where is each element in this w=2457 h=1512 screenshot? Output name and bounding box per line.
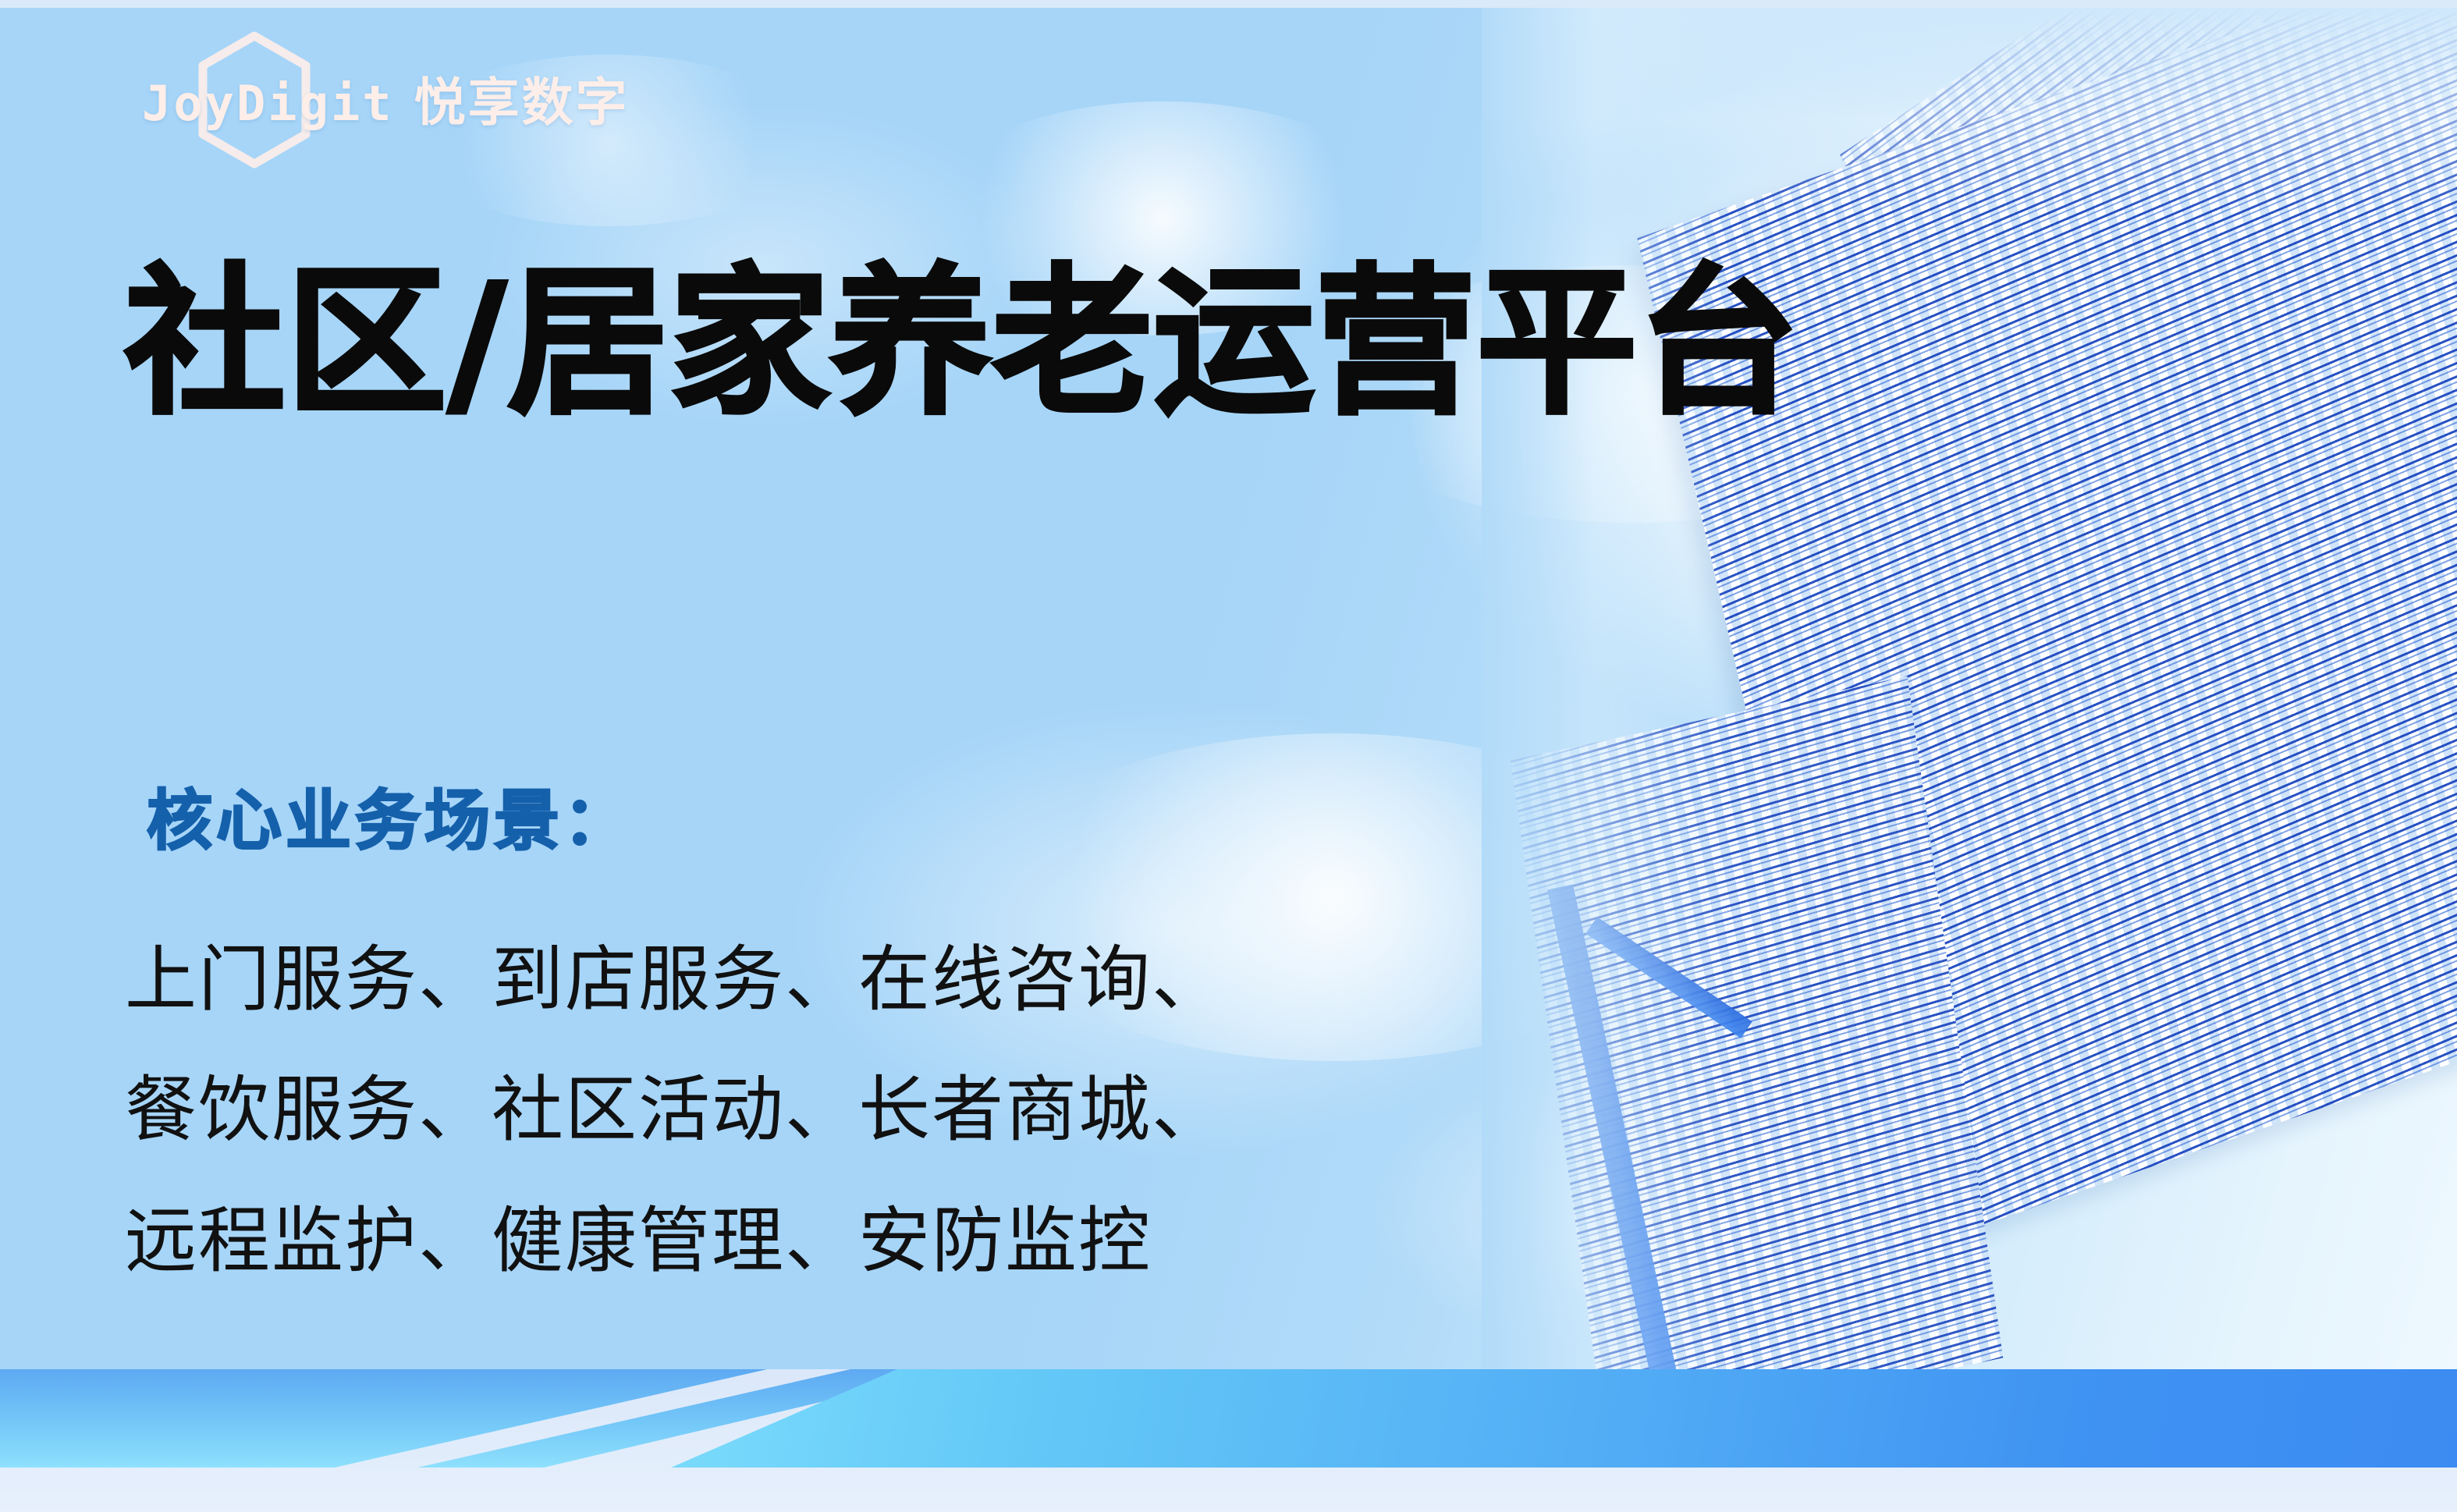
top-accent-strip <box>0 0 2457 8</box>
brand-logo-chinese: 悦享数字 <box>414 61 630 136</box>
core-scenarios-list: 上门服务、到店服务、在线咨询、 餐饮服务、社区活动、长者商城、 远程监护、健康管… <box>125 914 1225 1306</box>
footer-band-right-parallelogram <box>671 1369 2457 1468</box>
brand-logo-text: JoyDigit 悦享数字 <box>142 61 630 136</box>
brand-logo-latin: JoyDigit <box>142 75 394 132</box>
core-scenarios-heading: 核心业务场景： <box>147 768 633 863</box>
scenario-line: 上门服务、到店服务、在线咨询、 <box>125 914 1225 1045</box>
brand-logo[interactable]: JoyDigit 悦享数字 <box>133 28 630 169</box>
scenario-line: 餐饮服务、社区活动、长者商城、 <box>125 1045 1225 1175</box>
scenario-line: 远程监护、健康管理、安防监控 <box>125 1176 1225 1306</box>
cloud-shape <box>1451 1045 1997 1311</box>
page-title: 社区/居家养老运营平台 <box>125 257 1800 430</box>
cloud-shape <box>1857 55 2341 320</box>
slide-canvas: JoyDigit 悦享数字 社区/居家养老运营平台 核心业务场景： 上门服务、到… <box>0 0 2457 1512</box>
